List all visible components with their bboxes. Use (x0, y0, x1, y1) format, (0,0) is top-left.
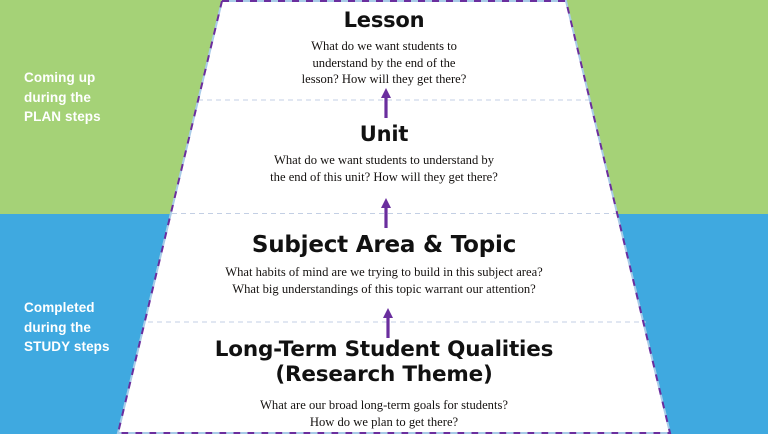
tier-lesson: Lesson What do we want students to under… (0, 8, 768, 88)
pyramid-diagram: Coming up during the PLAN steps Complete… (0, 0, 768, 434)
tier-subject-area-topic: Subject Area & Topic What habits of mind… (0, 232, 768, 298)
tier-unit: Unit What do we want students to underst… (0, 122, 768, 185)
tier-lesson-description: What do we want students to understand b… (254, 38, 514, 88)
tier-long-term-student-qualities: Long-Term Student Qualities (Research Th… (0, 338, 768, 430)
tier-subject-area-topic-title: Subject Area & Topic (0, 232, 768, 258)
tier-lesson-title: Lesson (0, 8, 768, 32)
tier-long-term-student-qualities-description: What are our broad long-term goals for s… (219, 397, 549, 430)
tier-unit-description: What do we want students to understand b… (219, 152, 549, 185)
tier-subject-area-topic-description: What habits of mind are we trying to bui… (174, 264, 594, 298)
tier-long-term-student-qualities-title: Long-Term Student Qualities (Research Th… (0, 338, 768, 388)
plan-band-caption: Coming up during the PLAN steps (24, 68, 101, 127)
study-band-caption: Completed during the STUDY steps (24, 298, 110, 357)
tier-unit-title: Unit (0, 122, 768, 146)
